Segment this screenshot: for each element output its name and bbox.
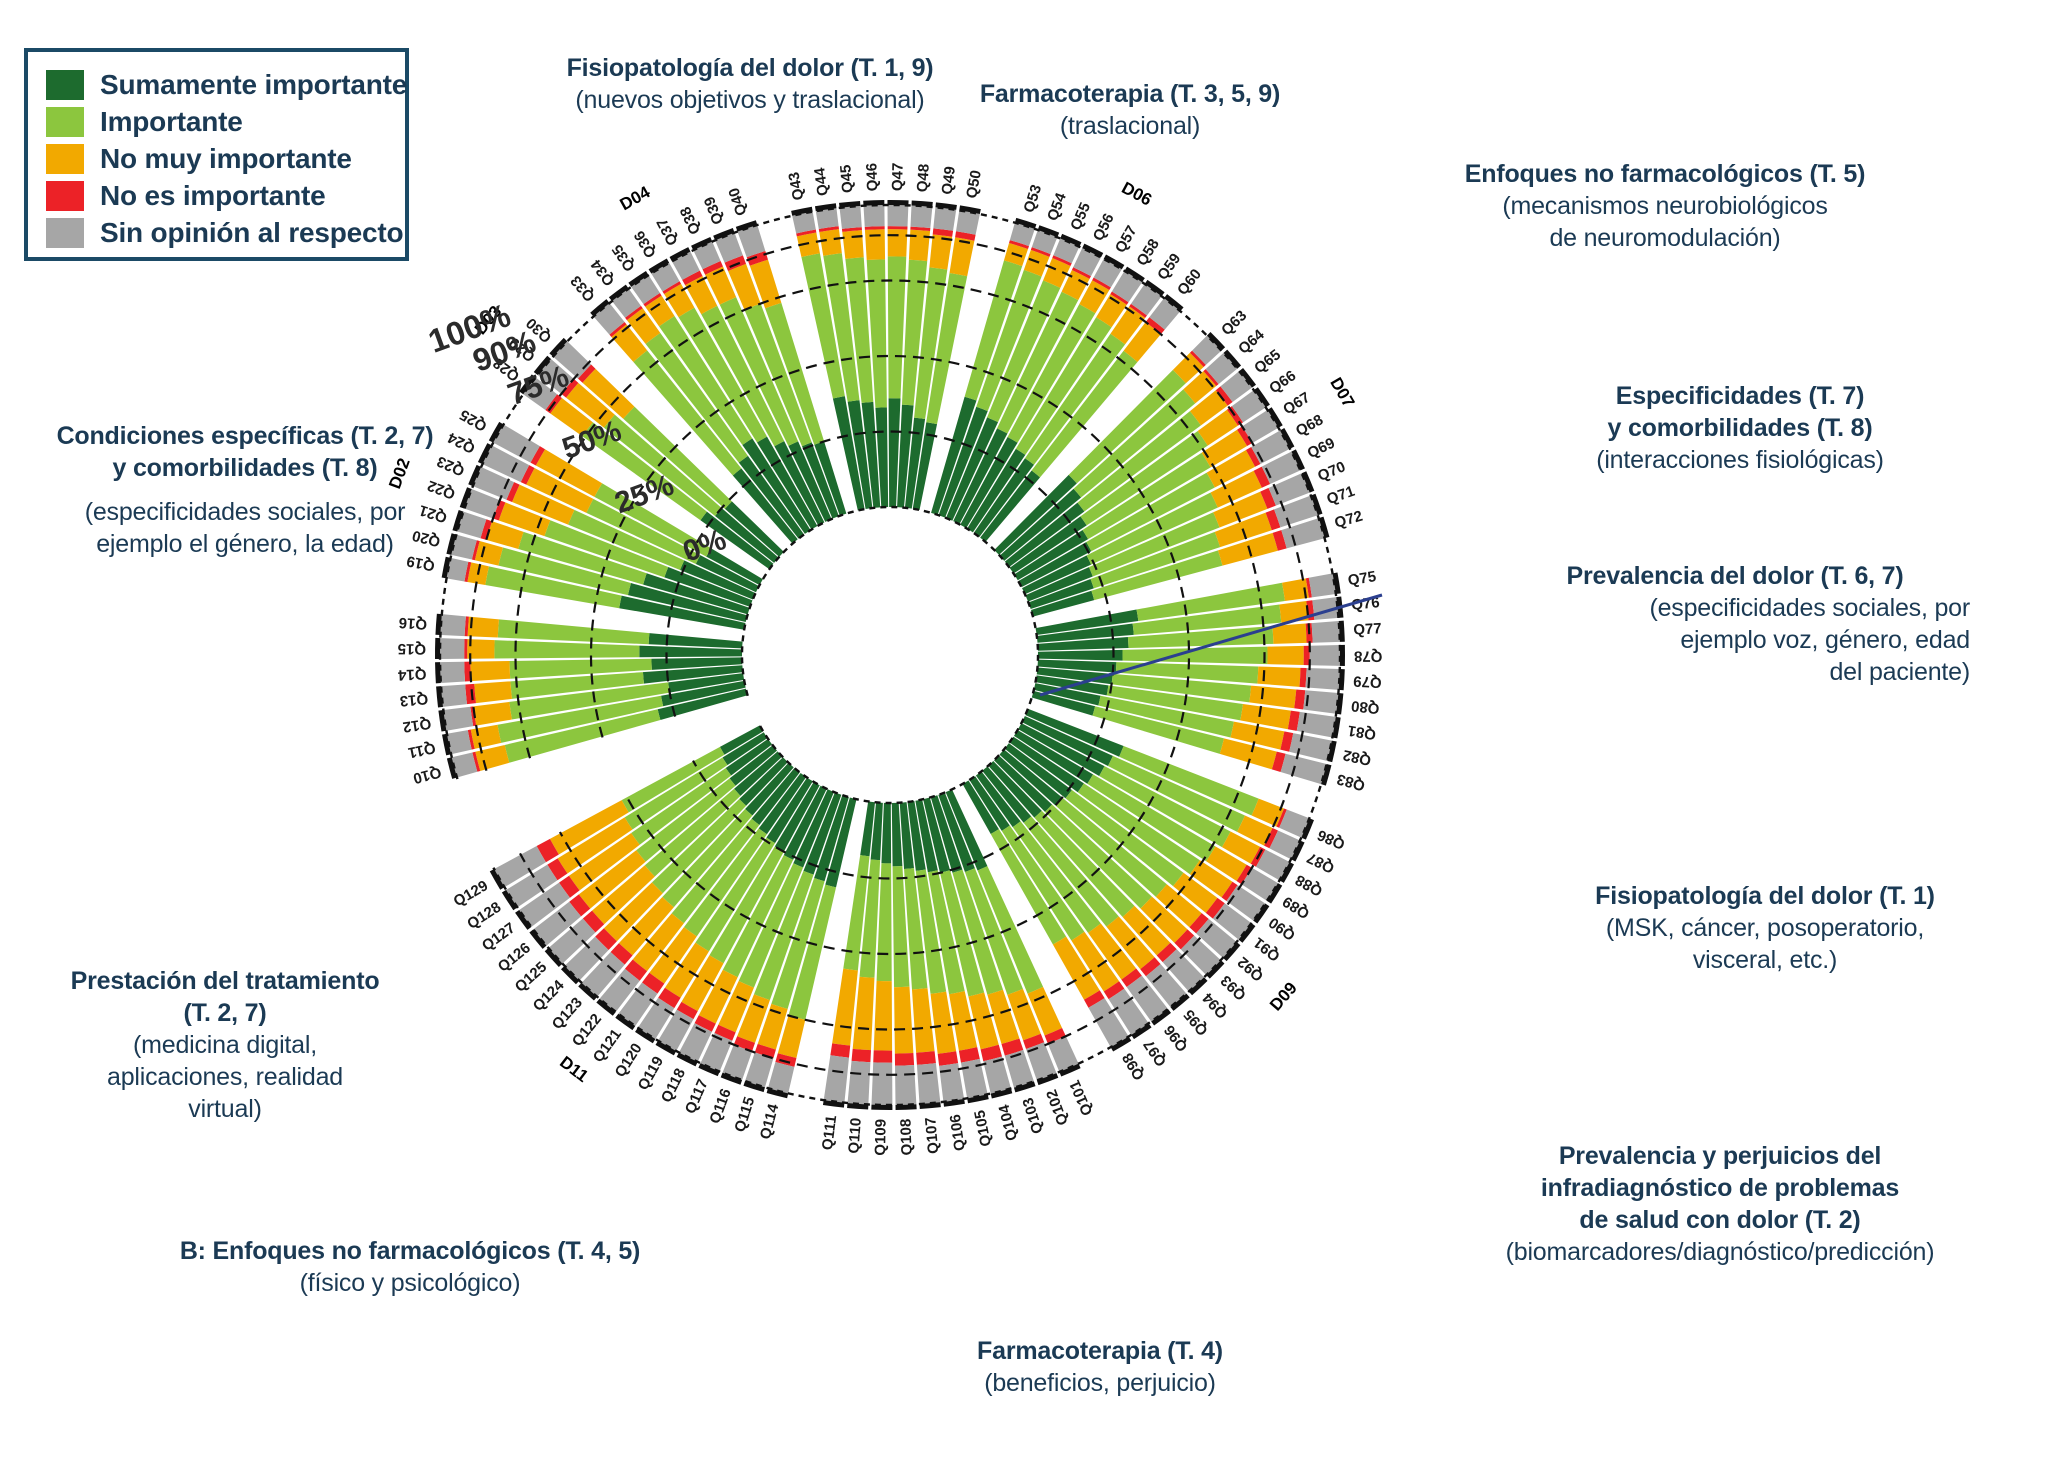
annotation-d01: Fisiopatología del dolor (T. 1, 9) (nuev… [520,52,980,116]
question-label: Q75 [1347,568,1378,589]
annotation-d07: Prevalencia y perjuicios delinfradiagnós… [1440,1140,2000,1268]
question-label: Q58 [1133,236,1163,269]
question-label: Q102 [1043,1087,1072,1127]
question-label: Q45 [837,164,856,194]
legend-item: Sin opinión al respecto [46,214,389,251]
question-label: Q48 [914,163,933,192]
question-label: Q36 [631,228,660,261]
bar-segment [840,206,862,229]
question-label: Q49 [939,165,959,195]
bar-segment [1310,645,1340,666]
question-label: Q70 [1315,458,1348,485]
question-label: Q95 [1181,1006,1212,1039]
annotation-d02: Farmacoterapia (T. 3, 5, 9) (traslaciona… [930,78,1330,142]
domain-label: D07 [1326,374,1358,411]
bar-segment [871,1062,892,1105]
bar-segment [917,1063,940,1104]
question-label: Q54 [1044,190,1070,223]
question-label: Q71 [1325,483,1357,508]
question-label: Q98 [1119,1050,1148,1083]
question-label: Q115 [731,1095,758,1134]
bar-segment [498,619,650,644]
question-label: Q55 [1067,200,1094,233]
annotation-d06: Fisiopatología del dolor (T. 1) (MSK, cá… [1550,880,1980,976]
legend-item: Sumamente importante [46,66,389,103]
bar-segment [1306,668,1340,690]
bar-segment [1303,690,1338,714]
legend-swatch-sumamente-importante [46,70,84,100]
question-label: Q66 [1266,367,1299,397]
annotation-sub: (interacciones fisiológicas) [1520,444,1960,476]
legend-swatch-no-muy-importante [46,144,84,174]
question-label: Q10 [411,763,443,787]
question-label: Q57 [1112,223,1141,256]
legend-item: No es importante [46,177,389,214]
annotation-d08: Farmacoterapia (T. 4) (beneficios, perju… [870,1335,1330,1399]
annotation-sub: (especificidades sociales, porejemplo vo… [1500,592,1970,688]
domain-label: D09 [1266,978,1301,1014]
annotation-sub: (biomarcadores/diagnóstico/predicción) [1440,1236,2000,1268]
question-label: Q24 [444,428,478,456]
question-label: Q67 [1280,389,1313,418]
bar-segment [440,662,465,683]
question-label: Q35 [609,241,639,274]
bar-segment [887,205,908,226]
question-label: Q108 [897,1118,915,1155]
bar-segment [464,639,467,659]
question-label: Q104 [995,1102,1021,1142]
question-label: Q93 [1217,972,1249,1004]
annotation-d09: B: Enfoques no farmacológicos (T. 4, 5) … [110,1235,710,1299]
question-label: Q46 [863,163,881,192]
annotation-title: Especificidades (T. 7)y comorbilidades (… [1520,380,1960,444]
question-label: Q69 [1305,435,1338,463]
bar-segment [848,1061,871,1105]
annotation-sub: (MSK, cáncer, posoperatorio,visceral, et… [1550,912,1980,976]
legend-label: Sumamente importante [100,69,407,101]
question-label: Q111 [819,1114,840,1151]
question-label: Q21 [417,501,449,526]
bar-segment [1309,573,1336,597]
question-label: Q82 [1341,746,1372,769]
question-label: Q23 [434,452,467,479]
annotation-sub: (traslacional) [930,110,1330,142]
question-label: Q34 [587,256,618,289]
question-label: Q20 [410,527,442,550]
annotation-d05: Prevalencia del dolor (T. 6, 7) (especif… [1500,560,1970,688]
bar-segment [910,206,932,229]
question-label: Q43 [785,171,807,202]
question-label: Q39 [701,194,727,227]
question-label: Q101 [1066,1078,1096,1118]
question-label: Q64 [1235,326,1268,358]
legend-box: Sumamente importante Importante No muy i… [24,48,409,261]
bar-segment [916,1051,936,1065]
question-label: Q106 [947,1113,969,1152]
question-label: Q11 [407,739,437,761]
question-label: Q78 [1354,648,1382,665]
bar-segment [881,803,891,864]
bar-segment [1267,646,1303,665]
question-label: Q50 [963,169,985,200]
question-label: Q103 [1020,1096,1047,1136]
question-label: Q13 [399,690,429,710]
question-label: Q87 [1304,849,1337,877]
bar-segment [440,638,464,659]
question-label: Q16 [398,614,427,633]
annotation-title: Farmacoterapia (T. 4) [870,1335,1330,1367]
legend-swatch-sin-opinion [46,218,84,248]
domain-label: D04 [617,182,654,214]
question-label: Q12 [402,715,433,736]
bar-segment [447,730,472,754]
bar-segment [865,229,885,260]
bar-segment [933,207,956,231]
bar-segment [440,614,465,636]
legend-swatch-importante [46,107,84,137]
bar-segment [895,1053,914,1066]
question-label: Q81 [1347,722,1378,743]
legend-label: Sin opinión al respecto [100,217,403,249]
bar-segment [824,1055,849,1102]
question-label: Q80 [1350,697,1380,717]
bar-segment [956,210,980,234]
domain-label: D10 [947,1159,981,1160]
legend-label: Importante [100,106,243,138]
question-label: Q96 [1161,1022,1192,1055]
domain-label: D11 [556,1053,592,1086]
legend-label: No es importante [100,180,326,212]
gridline [742,507,1038,803]
question-label: Q79 [1353,672,1382,691]
question-label: Q107 [922,1116,942,1154]
annotation-title: Enfoques no farmacológicos (T. 5) [1400,158,1930,190]
bar-segment [1300,668,1307,688]
question-label: Q15 [398,640,427,657]
question-label: Q56 [1090,211,1118,244]
question-label: Q25 [457,406,490,435]
polar-stacked-bar-chart: Q10Q11Q12Q13Q14Q15Q16Q19Q20Q21Q22Q23Q24Q… [380,150,1400,1160]
bar-segment [874,981,892,1051]
question-label: Q14 [397,665,427,683]
chart-svg: Q10Q11Q12Q13Q14Q15Q16Q19Q20Q21Q22Q23Q24Q… [380,150,1400,1160]
annotation-d10: Prestación del tratamiento(T. 2, 7) (med… [40,965,410,1125]
question-label: Q53 [1020,183,1045,215]
bar-segment [649,633,743,648]
annotation-title: Prevalencia del dolor (T. 6, 7) [1500,560,1970,592]
question-label: Q63 [1218,307,1250,339]
question-label: Q72 [1333,508,1365,532]
bar-segment [473,702,512,726]
question-label: Q92 [1234,953,1267,984]
bar-segment [443,707,473,731]
bar-segment [441,684,467,706]
bar-segment [1249,686,1296,709]
question-label: Q44 [811,166,832,197]
annotation-title: Prevalencia y perjuicios delinfradiagnós… [1440,1140,2000,1236]
annotation-sub: (físico y psicológico) [110,1267,710,1299]
question-label: Q116 [706,1086,734,1126]
annotation-d03: Enfoques no farmacológicos (T. 5) (mecan… [1400,158,1930,254]
question-label: Q19 [405,552,436,574]
bar-segment [474,681,512,703]
question-label: Q90 [1266,914,1299,944]
bar-segment [863,205,884,227]
question-label: Q91 [1251,934,1284,965]
bar-segment [950,237,975,276]
question-label: Q77 [1353,620,1382,638]
question-label: Q59 [1154,250,1184,283]
question-label: Q86 [1315,826,1348,853]
question-label: Q37 [653,215,681,248]
bar-segment [895,1065,916,1105]
bar-segment [832,969,858,1046]
domain-label: D02 [385,456,414,492]
annotation-title: Farmacoterapia (T. 3, 5, 9) [930,78,1330,110]
annotation-sub: (beneficios, perjuicio) [870,1367,1330,1399]
question-label: Q68 [1293,411,1326,440]
question-label: Q65 [1251,346,1284,377]
question-label: Q105 [971,1109,995,1148]
question-label: Q118 [658,1066,689,1106]
question-label: Q83 [1335,770,1367,794]
bar-segment [873,1050,892,1062]
annotation-title: Fisiopatología del dolor (T. 1, 9) [520,52,980,84]
bar-segment [842,230,863,259]
annotation-sub: (nuevos objetivos y traslacional) [520,84,980,116]
domain-label: D06 [1118,178,1154,209]
bar-segment [852,1049,871,1062]
annotation-sub: (medicina digital,aplicaciones, realidad… [40,1029,410,1125]
question-label: Q40 [725,186,750,218]
legend-label: No muy importante [100,143,352,175]
question-label: Q117 [682,1077,712,1117]
bar-segment [909,230,930,261]
annotation-d04: Especificidades (T. 7)y comorbilidades (… [1520,380,1960,476]
legend-item: No muy importante [46,140,389,177]
question-label: Q89 [1280,893,1313,922]
bar-segment [470,661,510,681]
question-label: Q22 [425,477,457,503]
question-label: Q88 [1293,871,1326,900]
question-label: Q47 [889,163,906,192]
question-label: Q109 [872,1119,890,1156]
bar-segment [471,725,501,749]
bar-segment [830,1043,850,1057]
question-label: Q33 [567,272,598,305]
bar-segment [1038,650,1123,661]
question-label: Q60 [1174,266,1205,299]
bar-segment [888,226,908,229]
annotation-title: Prestación del tratamiento(T. 2, 7) [40,965,410,1029]
legend-item: Importante [46,103,389,140]
question-label: Q114 [757,1102,783,1142]
annotation-title: Fisiopatología del dolor (T. 1) [1550,880,1980,912]
bar-segment [888,229,908,257]
bar-segment [475,541,503,566]
bar-segment [819,229,842,256]
bar-segment [465,684,476,704]
legend-swatch-no-es-importante [46,181,84,211]
bar-segment [894,987,913,1054]
question-label: Q97 [1140,1036,1170,1069]
question-label: Q110 [845,1117,865,1154]
annotation-sub: (mecanismos neurobiológicosde neuromodul… [1400,190,1930,254]
bar-segment [1312,621,1340,643]
question-label: Q38 [677,204,704,237]
annotation-title: B: Enfoques no farmacológicos (T. 4, 5) [110,1235,710,1267]
